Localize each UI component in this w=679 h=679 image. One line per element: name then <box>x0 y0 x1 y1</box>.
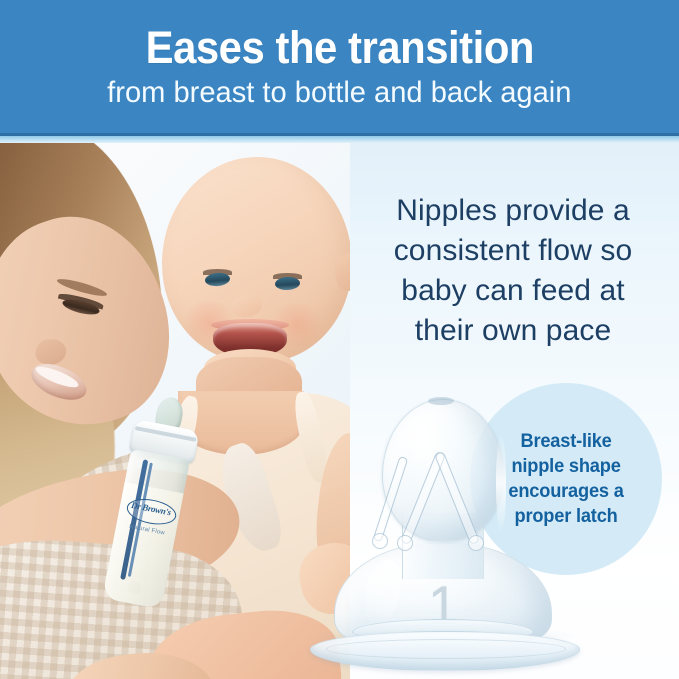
main-content-area: Dr Brown's Natural Flow Nipples provide … <box>0 143 679 679</box>
product-nipple: 1 <box>300 393 590 653</box>
product-marketing-image: Eases the transition from breast to bott… <box>0 0 679 679</box>
benefit-copy-line-3: baby can feed at <box>354 271 672 311</box>
nipple-edge-glare <box>496 433 506 533</box>
benefit-copy-line-4: their own pace <box>354 311 672 351</box>
page-title: Eases the transition <box>145 24 533 72</box>
nipple-vent-dot-a <box>397 535 413 551</box>
nipple-flange-inner-ring <box>326 639 566 659</box>
benefit-copy-line-1: Nipples provide a <box>354 191 672 231</box>
header-banner: Eases the transition from breast to bott… <box>0 0 679 133</box>
lifestyle-photo: Dr Brown's Natural Flow <box>0 143 350 679</box>
nipple-tip-opening <box>428 397 454 405</box>
header-glow-strip <box>0 136 679 143</box>
nipple-vent-dot-outer <box>372 533 388 549</box>
nipple-vent-dot-b <box>468 535 484 551</box>
page-subtitle: from breast to bottle and back again <box>107 76 571 110</box>
benefit-copy: Nipples provide a consistent flow so bab… <box>354 191 672 351</box>
benefit-copy-line-2: consistent flow so <box>354 231 672 271</box>
